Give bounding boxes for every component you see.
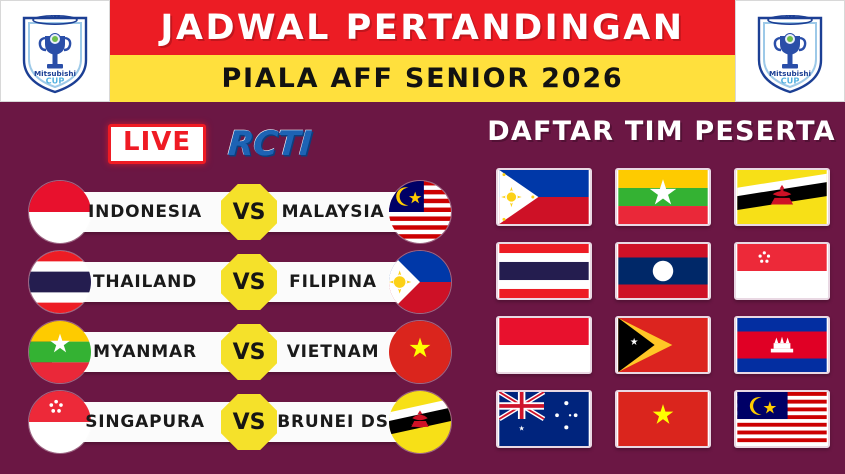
svg-text:CUP: CUP: [46, 76, 65, 86]
malaysia-flag: [388, 180, 452, 244]
timor-leste-flag[interactable]: [615, 316, 711, 374]
away-team-name: FILIPINA: [258, 262, 408, 302]
match-row[interactable]: THAILAND VS FILIPINA: [0, 248, 478, 318]
vietnam-flag: [388, 320, 452, 384]
participants-title: DAFTAR TIM PESERTA: [478, 116, 845, 147]
myanmar-flag[interactable]: [615, 168, 711, 226]
away-team-name: BRUNEI DS: [258, 402, 408, 442]
header-title-block: JADWAL PERTANDINGAN PIALA AFF SENIOR 202…: [110, 0, 735, 102]
live-label: LIVE: [123, 127, 191, 157]
svg-text:AFF: AFF: [50, 15, 61, 21]
match-list: INDONESIA VS MALAYSIA: [0, 178, 478, 458]
logo-left: AFF Mitsubishi CUP: [0, 0, 110, 102]
vietnam-flag[interactable]: [615, 390, 711, 448]
away-team-name: MALAYSIA: [258, 192, 408, 232]
broadcast-row: LIVE RCTI: [108, 124, 311, 164]
away-team-name: VIETNAM: [258, 332, 408, 372]
aff-cup-shield-logo: AFF Mitsubishi CUP: [753, 8, 827, 94]
brunei-flag: [388, 390, 452, 454]
header-band-yellow: PIALA AFF SENIOR 2026: [110, 55, 735, 102]
svg-text:CUP: CUP: [781, 76, 800, 86]
home-team-name: SINGAPURA: [70, 402, 220, 442]
match-schedule-panel: LIVE RCTI INDONESIA VS MALAYSIA: [0, 102, 478, 474]
svg-text:AFF: AFF: [785, 15, 796, 21]
header-band-red: JADWAL PERTANDINGAN: [110, 0, 735, 55]
philippines-flag: [388, 250, 452, 314]
header: AFF Mitsubishi CUP JADWAL PERTANDINGAN P…: [0, 0, 845, 102]
participants-panel: DAFTAR TIM PESERTA: [478, 102, 845, 474]
home-team-name: MYANMAR: [70, 332, 220, 372]
poster-root: AFF Mitsubishi CUP JADWAL PERTANDINGAN P…: [0, 0, 845, 474]
match-row[interactable]: MYANMAR VS VIETNAM: [0, 318, 478, 388]
thailand-flag[interactable]: [496, 242, 592, 300]
singapore-flag[interactable]: [734, 242, 830, 300]
aff-cup-shield-logo: AFF Mitsubishi CUP: [18, 8, 92, 94]
home-team-name: THAILAND: [70, 262, 220, 302]
rcti-logo: RCTI: [227, 124, 313, 164]
logo-right: AFF Mitsubishi CUP: [735, 0, 845, 102]
participants-flag-grid: [496, 168, 836, 456]
indonesia-flag[interactable]: [496, 316, 592, 374]
home-team-name: INDONESIA: [70, 192, 220, 232]
page-title-secondary: PIALA AFF SENIOR 2026: [221, 63, 623, 94]
malaysia-flag[interactable]: [734, 390, 830, 448]
philippines-flag[interactable]: [496, 168, 592, 226]
match-row[interactable]: SINGAPURA VS BRUNEI DS: [0, 388, 478, 458]
live-badge: LIVE: [108, 124, 206, 163]
laos-flag[interactable]: [615, 242, 711, 300]
cambodia-flag[interactable]: [734, 316, 830, 374]
brunei-flag[interactable]: [734, 168, 830, 226]
australia-flag[interactable]: [496, 390, 592, 448]
page-title-primary: JADWAL PERTANDINGAN: [160, 8, 684, 48]
match-row[interactable]: INDONESIA VS MALAYSIA: [0, 178, 478, 248]
